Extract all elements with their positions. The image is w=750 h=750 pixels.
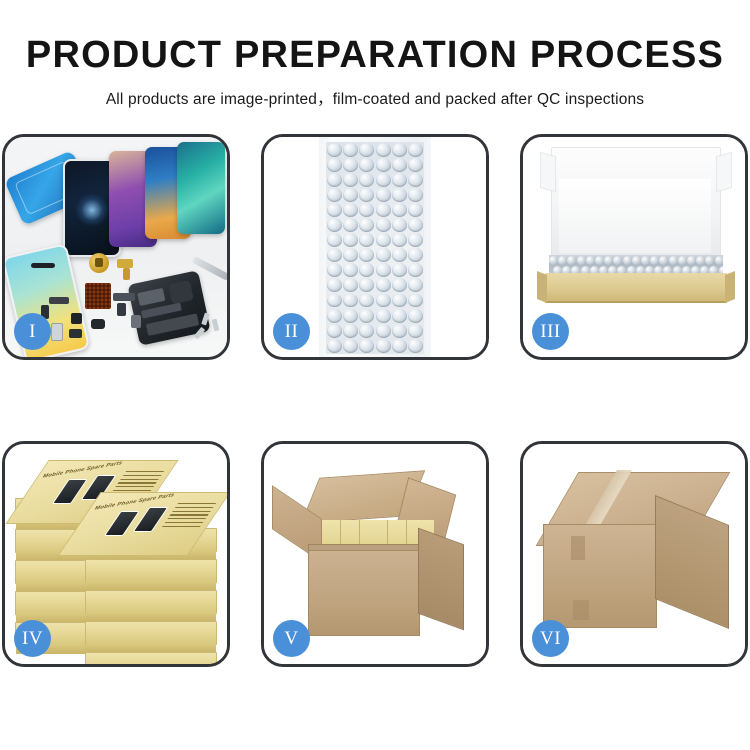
- bubble: [359, 309, 374, 323]
- bubble: [408, 218, 423, 232]
- bubble: [343, 143, 358, 157]
- step-badge-2: II: [273, 313, 310, 350]
- step-panel-1[interactable]: I: [2, 134, 230, 360]
- bubble: [586, 256, 595, 265]
- circuit-chip-icon: [85, 283, 111, 309]
- bubble: [623, 256, 632, 265]
- bubble: [359, 188, 374, 202]
- steps-row-bottom: Mobile Phone Spare PartsMobile Phone Spa…: [0, 441, 750, 667]
- bubble: [392, 263, 407, 277]
- bubble: [359, 294, 374, 308]
- bubble: [376, 324, 391, 338]
- bubble: [343, 263, 358, 277]
- screen-print-icon: [104, 511, 140, 536]
- screw-icon: [212, 319, 220, 332]
- bubble: [376, 158, 391, 172]
- bubble: [408, 248, 423, 262]
- bubble: [359, 248, 374, 262]
- bubble: [376, 218, 391, 232]
- stacked-box: [85, 559, 217, 583]
- bubble: [343, 248, 358, 262]
- bubble: [343, 294, 358, 308]
- bubble: [327, 248, 342, 262]
- bubble: [408, 309, 423, 323]
- bubble: [343, 218, 358, 232]
- step-panel-5[interactable]: V: [261, 441, 489, 667]
- bubble: [343, 278, 358, 292]
- bubble: [327, 294, 342, 308]
- kraft-inner-box: [545, 273, 727, 303]
- bubble: [376, 173, 391, 187]
- carton-side-face: [655, 495, 729, 629]
- bubble: [327, 158, 342, 172]
- bubble: [392, 143, 407, 157]
- bubble: [558, 256, 567, 265]
- carton-seam: [573, 600, 589, 620]
- bubble: [376, 203, 391, 217]
- bubble: [408, 324, 423, 338]
- step-badge-5: V: [273, 620, 310, 657]
- small-part-icon: [49, 297, 69, 304]
- small-part-icon: [117, 303, 126, 316]
- bubble: [343, 339, 358, 353]
- stacked-box: [85, 652, 217, 664]
- bubble: [376, 263, 391, 277]
- bubble: [408, 158, 423, 172]
- bubble: [613, 256, 622, 265]
- bubble: [327, 324, 342, 338]
- stacked-box: [85, 590, 217, 614]
- bubble: [376, 188, 391, 202]
- bubble: [577, 256, 586, 265]
- bubble: [392, 158, 407, 172]
- step-badge-3: III: [532, 313, 569, 350]
- bubble: [359, 278, 374, 292]
- step-badge-4: IV: [14, 620, 51, 657]
- bubble: [327, 278, 342, 292]
- earpiece-speaker-icon: [31, 263, 55, 268]
- open-shipping-carton: [286, 478, 462, 638]
- bubble: [678, 256, 687, 265]
- bubble: [376, 248, 391, 262]
- bubble: [696, 256, 705, 265]
- bubble: [359, 339, 374, 353]
- bubble: [327, 143, 342, 157]
- steps-row-top: I II III: [0, 134, 750, 360]
- bubble: [392, 188, 407, 202]
- bubble: [392, 218, 407, 232]
- bubble: [392, 339, 407, 353]
- bubble: [687, 256, 696, 265]
- bubble: [359, 173, 374, 187]
- carton-front-face: [308, 550, 420, 636]
- carton-front-face: [543, 524, 657, 628]
- vibration-motor-icon: [89, 253, 109, 273]
- bubble: [392, 248, 407, 262]
- bubble: [650, 256, 659, 265]
- step-badge-6: VI: [532, 620, 569, 657]
- bubble: [376, 339, 391, 353]
- small-part-icon: [71, 313, 82, 324]
- bubble: [343, 188, 358, 202]
- bubble: [408, 339, 423, 353]
- bubble: [392, 324, 407, 338]
- flex-connector-icon: [123, 268, 130, 280]
- bubble: [408, 143, 423, 157]
- screen-print-icon: [52, 479, 88, 504]
- bubble: [359, 143, 374, 157]
- bubble: [359, 324, 374, 338]
- bubble: [327, 173, 342, 187]
- carton-seam: [571, 536, 585, 560]
- bubble: [641, 256, 650, 265]
- bubble: [392, 278, 407, 292]
- battery-connector-icon: [51, 323, 63, 341]
- bubble-wrap-strip: [319, 137, 431, 357]
- bubble: [327, 339, 342, 353]
- step-panel-3[interactable]: III: [520, 134, 748, 360]
- bubble: [327, 218, 342, 232]
- bubble: [408, 233, 423, 247]
- bubble: [408, 188, 423, 202]
- camera-module-icon: [91, 319, 105, 329]
- bubble: [343, 173, 358, 187]
- bubble: [408, 278, 423, 292]
- bubble: [376, 278, 391, 292]
- bubble: [408, 263, 423, 277]
- bubble: [567, 256, 576, 265]
- bubble: [359, 263, 374, 277]
- bubble: [376, 143, 391, 157]
- small-part-icon: [113, 293, 135, 301]
- bubble: [327, 309, 342, 323]
- bubble: [327, 188, 342, 202]
- small-part-icon: [69, 329, 82, 338]
- bubble: [549, 256, 558, 265]
- bubble: [376, 294, 391, 308]
- bubble: [705, 256, 714, 265]
- bubble: [408, 203, 423, 217]
- bubble: [715, 256, 723, 265]
- bubble: [604, 256, 613, 265]
- page-subtitle: All products are image-printed，film-coat…: [0, 76, 750, 109]
- process-steps-grid: I II III Mobile Phone Sp: [0, 134, 750, 667]
- bubble: [327, 263, 342, 277]
- bubble: [376, 309, 391, 323]
- bubble: [376, 233, 391, 247]
- step-badge-1: I: [14, 313, 51, 350]
- step-panel-6[interactable]: VI: [520, 441, 748, 667]
- bubble-grid: [326, 142, 424, 354]
- bubble: [669, 256, 678, 265]
- bubble: [343, 324, 358, 338]
- step-panel-2[interactable]: II: [261, 134, 489, 360]
- bubble: [343, 233, 358, 247]
- bubble: [359, 158, 374, 172]
- flex-cable-icon: [117, 259, 133, 268]
- bubble: [343, 203, 358, 217]
- spec-lines: [160, 503, 216, 529]
- stacked-box: [85, 621, 217, 645]
- bubble: [408, 173, 423, 187]
- sealed-shipping-carton: [543, 472, 727, 644]
- bubble: [595, 256, 604, 265]
- page-title: PRODUCT PREPARATION PROCESS: [0, 0, 750, 76]
- bubble: [392, 309, 407, 323]
- bubble: [392, 173, 407, 187]
- white-inner-liner: [559, 179, 711, 253]
- bubble: [659, 256, 668, 265]
- bubble: [343, 158, 358, 172]
- bubble: [359, 203, 374, 217]
- bubble: [632, 256, 641, 265]
- bubble: [359, 218, 374, 232]
- bubble: [408, 294, 423, 308]
- bubble: [343, 309, 358, 323]
- bubble: [327, 233, 342, 247]
- teal-phone-screen-icon: [177, 142, 225, 234]
- bubble: [392, 294, 407, 308]
- bubble: [392, 233, 407, 247]
- small-part-icon: [131, 315, 141, 328]
- step-panel-4[interactable]: Mobile Phone Spare PartsMobile Phone Spa…: [2, 441, 230, 667]
- carton-side-face: [418, 528, 464, 631]
- bubble: [327, 203, 342, 217]
- page-header: PRODUCT PREPARATION PROCESS All products…: [0, 0, 750, 109]
- bubble: [359, 233, 374, 247]
- bubble: [392, 203, 407, 217]
